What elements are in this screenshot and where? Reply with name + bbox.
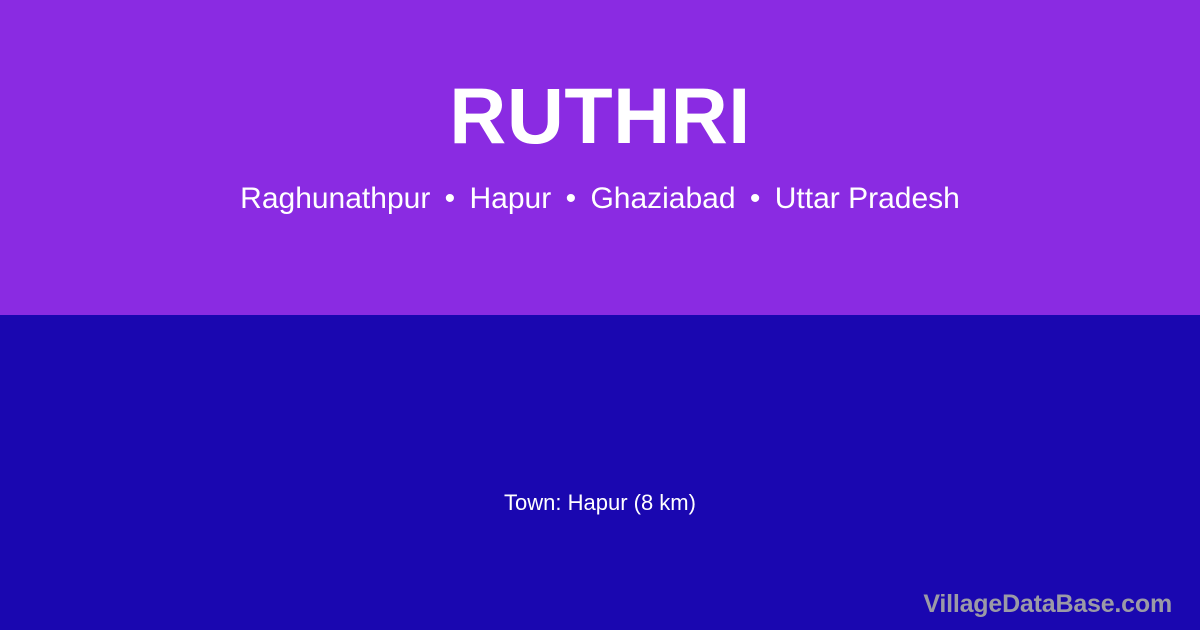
breadcrumb-item-block: Hapur [470,182,552,215]
breadcrumb-item-state: Uttar Pradesh [775,182,960,215]
site-watermark: VillageDataBase.com [923,588,1172,620]
breadcrumb-separator-icon: • [560,181,583,217]
nearest-town-text: Town: Hapur (8 km) [0,489,1200,517]
page-title: RUTHRI [0,76,1200,155]
breadcrumb-item-district: Ghaziabad [590,182,735,215]
breadcrumb: Raghunathpur • Hapur • Ghaziabad • Uttar… [0,181,1200,217]
breadcrumb-separator-icon: • [744,181,767,217]
breadcrumb-separator-icon: • [439,181,462,217]
hero-banner: RUTHRI Raghunathpur • Hapur • Ghaziabad … [0,0,1200,315]
breadcrumb-item-village: Raghunathpur [240,182,430,215]
body-panel: Town: Hapur (8 km) [0,315,1200,630]
village-info-card: RUTHRI Raghunathpur • Hapur • Ghaziabad … [0,0,1200,630]
